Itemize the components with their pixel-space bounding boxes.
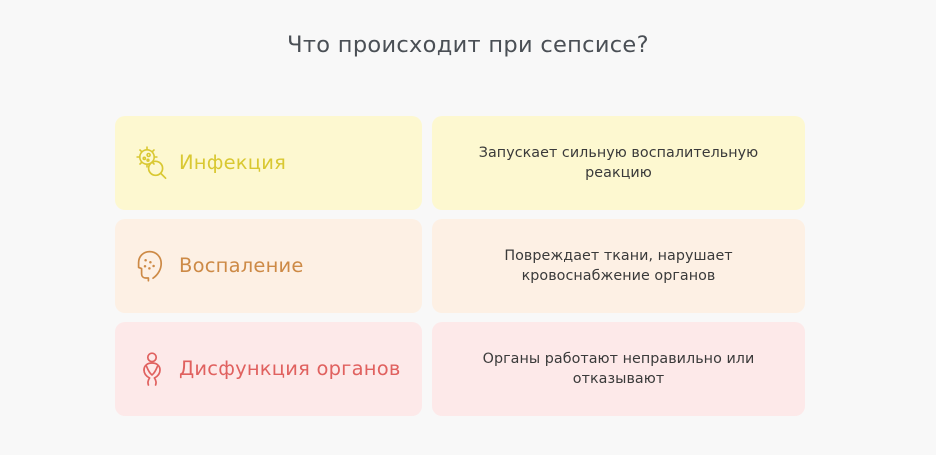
stage-label-text: Дисфункция органов [179, 358, 401, 380]
stage-description-text: Запускает сильную воспалительную реакцию [458, 143, 779, 184]
stage-description-card-infection: Запускает сильную воспалительную реакцию [432, 116, 805, 210]
stage-description-card-organ-dysfunction: Органы работают неправильно или отказыва… [432, 322, 805, 416]
stage-row-infection: Инфекция Запускает сильную воспалительну… [115, 116, 805, 210]
stage-row-inflammation: Воспаление Повреждает ткани, нарушает кр… [115, 219, 805, 313]
page-title: Что происходит при сепсисе? [0, 32, 936, 58]
stage-label-text: Воспаление [179, 255, 304, 277]
stage-label-card-organ-dysfunction[interactable]: Дисфункция органов [115, 322, 422, 416]
microbe-magnifier-icon [133, 143, 171, 183]
stage-description-text: Органы работают неправильно или отказыва… [458, 349, 779, 390]
head-inflammation-icon [133, 246, 171, 286]
stage-description-card-inflammation: Повреждает ткани, нарушает кровоснабжени… [432, 219, 805, 313]
stage-description-text: Повреждает ткани, нарушает кровоснабжени… [458, 246, 779, 287]
stage-list: Инфекция Запускает сильную воспалительну… [115, 116, 805, 416]
stage-label-card-infection[interactable]: Инфекция [115, 116, 422, 210]
stage-row-organ-dysfunction: Дисфункция органов Органы работают непра… [115, 322, 805, 416]
infographic-page: Что происходит при сепсисе? [0, 0, 936, 455]
stage-label-text: Инфекция [179, 152, 286, 174]
human-body-icon [133, 349, 171, 389]
stage-label-card-inflammation[interactable]: Воспаление [115, 219, 422, 313]
